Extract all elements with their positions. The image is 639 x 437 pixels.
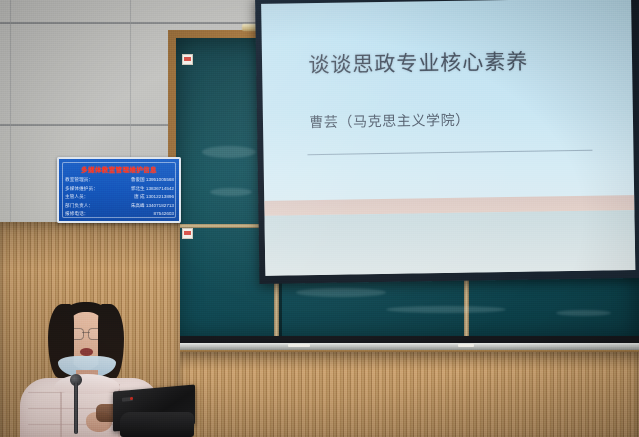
sign-row: 主管人员： 唐 成 13012213896	[65, 193, 174, 202]
sign-title: 多媒体教室管理维护信息	[59, 164, 179, 174]
blackboard-sticker	[182, 54, 193, 65]
blackboard-sticker	[182, 228, 193, 239]
sign-row: 教室管理员： 鲁俊国 13951005568	[65, 176, 174, 185]
presentation-slide: 谈谈思政专业核心素养 曹芸（马克思主义学院）	[261, 0, 635, 276]
sign-row: 报修电话： 87542603	[65, 210, 174, 219]
slide-title: 谈谈思政专业核心素养	[308, 46, 528, 79]
classroom-photo: 多媒体教室管理维护信息 教室管理员： 鲁俊国 13951005568 多媒体维护…	[0, 0, 639, 437]
wall-seam	[0, 22, 265, 24]
wainscot-panel-right	[180, 352, 639, 437]
coat-collar	[54, 374, 120, 394]
slide-lower-panel	[264, 210, 635, 276]
sign-rows: 教室管理员： 鲁俊国 13951005568 多媒体维护员： 郭北生 13836…	[65, 176, 174, 219]
sign-row: 多媒体维护员： 郭北生 13836714542	[65, 185, 174, 194]
laptop-logo	[122, 397, 133, 402]
classroom-info-sign: 多媒体教室管理维护信息 教室管理员： 鲁俊国 13951005568 多媒体维护…	[57, 157, 181, 223]
mouth	[80, 348, 93, 356]
projection-screen: 谈谈思政专业核心素养 曹芸（马克思主义学院）	[255, 0, 639, 284]
microphone	[74, 382, 78, 434]
sign-row: 部门负责人： 朱高峰 13407182713	[65, 202, 174, 211]
wall-seam	[10, 0, 11, 228]
slide-divider-rule	[308, 150, 593, 155]
bag	[120, 412, 194, 437]
slide-subtitle: 曹芸（马克思主义学院）	[309, 109, 470, 132]
